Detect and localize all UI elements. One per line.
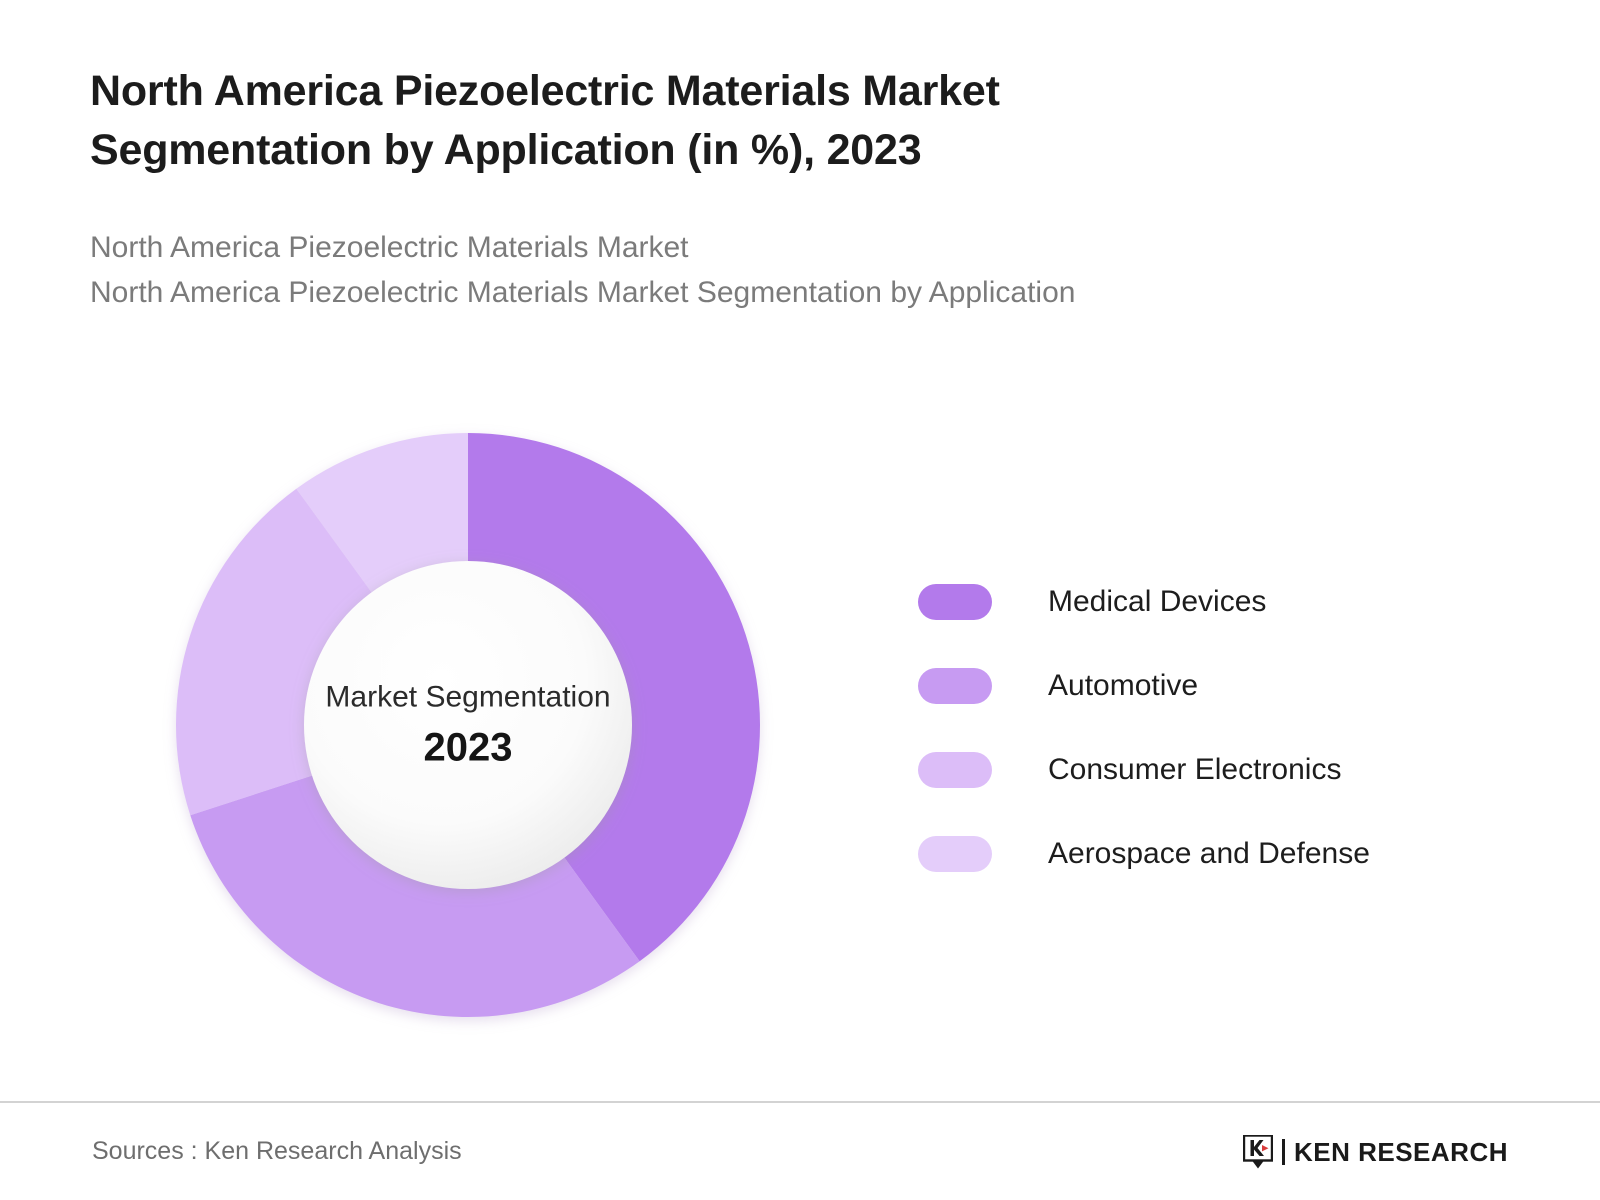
- legend-label: Consumer Electronics: [1048, 755, 1341, 785]
- page-title: North America Piezoelectric Materials Ma…: [90, 62, 1220, 181]
- donut-chart: Market Segmentation 2023: [176, 433, 760, 1017]
- chart-area: Market Segmentation 2023 Medical Devices…: [0, 400, 1600, 1060]
- legend-item[interactable]: Medical Devices: [918, 560, 1518, 644]
- legend-label: Medical Devices: [1048, 587, 1266, 617]
- legend-swatch: [918, 836, 992, 872]
- brand-logo: KEN RESEARCH: [1243, 1135, 1508, 1169]
- legend-label: Aerospace and Defense: [1048, 839, 1370, 869]
- legend-swatch: [918, 668, 992, 704]
- legend-item[interactable]: Automotive: [918, 644, 1518, 728]
- chart-legend: Medical DevicesAutomotiveConsumer Electr…: [918, 560, 1518, 896]
- subtitle-block: North America Piezoelectric Materials Ma…: [90, 225, 1380, 316]
- donut-svg: [176, 433, 760, 1017]
- legend-swatch: [918, 752, 992, 788]
- legend-label: Automotive: [1048, 671, 1198, 701]
- legend-item[interactable]: Consumer Electronics: [918, 728, 1518, 812]
- brand-divider: [1282, 1139, 1285, 1165]
- subtitle-line-1: North America Piezoelectric Materials Ma…: [90, 225, 1380, 271]
- brand-name: KEN RESEARCH: [1294, 1139, 1508, 1165]
- legend-swatch: [918, 584, 992, 620]
- donut-center-hole: [304, 561, 632, 889]
- subtitle-line-2: North America Piezoelectric Materials Ma…: [90, 270, 1380, 316]
- legend-item[interactable]: Aerospace and Defense: [918, 812, 1518, 896]
- chart-page: North America Piezoelectric Materials Ma…: [0, 0, 1600, 1200]
- ken-research-k-mark-icon: [1243, 1135, 1273, 1169]
- footer: Sources : Ken Research Analysis KEN RESE…: [0, 1103, 1600, 1200]
- source-note: Sources : Ken Research Analysis: [92, 1137, 462, 1166]
- header: North America Piezoelectric Materials Ma…: [90, 62, 1380, 316]
